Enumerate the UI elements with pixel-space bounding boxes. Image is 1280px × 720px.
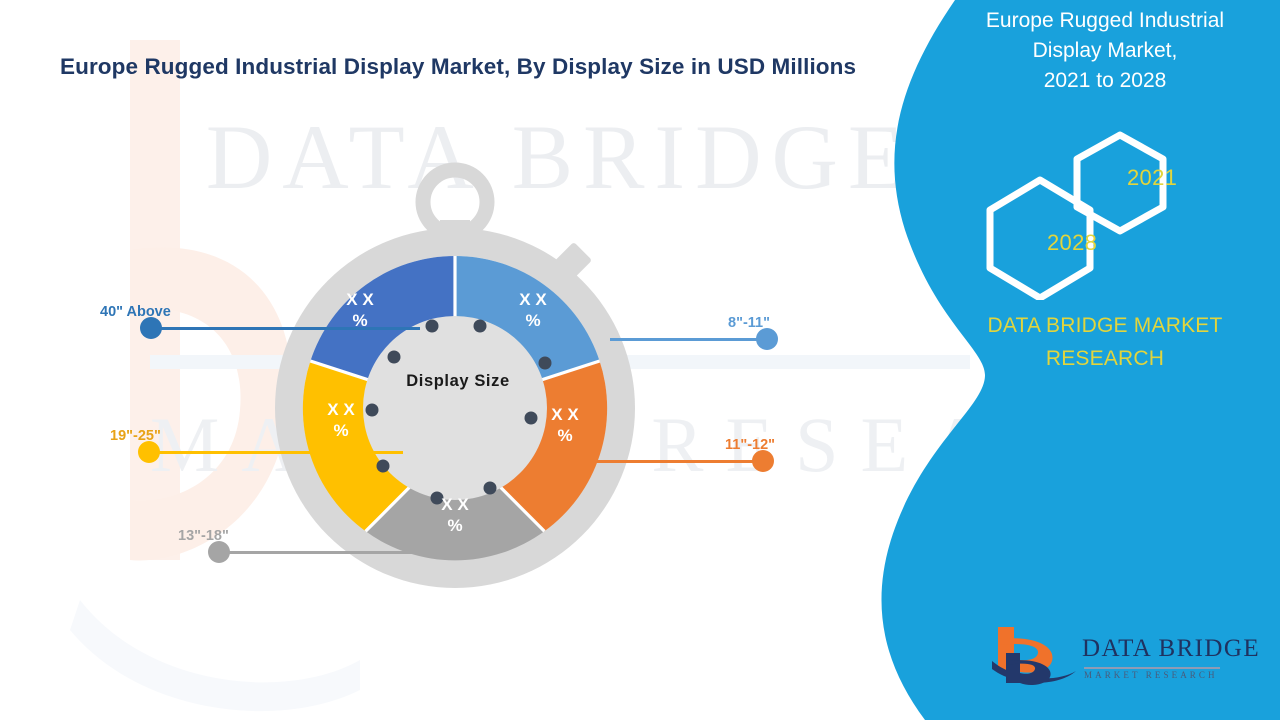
- callout-line-13-18: [218, 551, 443, 554]
- panel-title-line2: Display Market,: [938, 36, 1272, 66]
- donut-chart: Display Size X X % X X % X X % X X % X X…: [248, 150, 668, 590]
- callout-dot-11-12[interactable]: [752, 450, 774, 472]
- panel-title-line1: Europe Rugged Industrial: [938, 6, 1272, 36]
- panel-brand-line2: RESEARCH: [930, 343, 1280, 376]
- callout-dot-19-25[interactable]: [138, 441, 160, 463]
- callout-line-8-11: [610, 338, 766, 341]
- year-hexagons: 2021 2028: [985, 125, 1235, 295]
- data-bridge-logo: DATA BRIDGE MARKET RESEARCH: [990, 625, 1220, 695]
- callout-dot-40-above[interactable]: [140, 317, 162, 339]
- year-hexagons-svg: [985, 125, 1235, 300]
- data-bridge-mark-icon: [990, 625, 1080, 687]
- callout-line-19-25: [148, 451, 403, 454]
- donut-hub: [363, 316, 547, 500]
- logo-tagline: MARKET RESEARCH: [1084, 670, 1218, 680]
- callout-line-11-12: [588, 460, 764, 463]
- logo-divider: [1084, 667, 1220, 669]
- panel-brand-line1: DATA BRIDGE MARKET: [930, 310, 1280, 343]
- panel-content: Europe Rugged Industrial Display Market,…: [930, 0, 1280, 720]
- hexagon-2021-label: 2021: [1127, 165, 1177, 191]
- logo-wordmark: DATA BRIDGE: [1082, 635, 1260, 663]
- callout-line-40-above: [150, 327, 420, 330]
- callout-label-40-above: 40" Above: [100, 304, 171, 320]
- donut-chart-svg: [248, 150, 668, 590]
- panel-brand-text: DATA BRIDGE MARKET RESEARCH: [930, 310, 1280, 375]
- infographic-slide: DATA BRIDGE MARKET RESEARCH Europe Rugge…: [0, 0, 1280, 720]
- chart-title: Europe Rugged Industrial Display Market,…: [60, 54, 856, 80]
- hexagon-2028-label: 2028: [1047, 230, 1097, 256]
- callout-dot-8-11[interactable]: [756, 328, 778, 350]
- panel-title: Europe Rugged Industrial Display Market,…: [930, 6, 1280, 95]
- callout-dot-13-18[interactable]: [208, 541, 230, 563]
- panel-title-line3: 2021 to 2028: [938, 66, 1272, 96]
